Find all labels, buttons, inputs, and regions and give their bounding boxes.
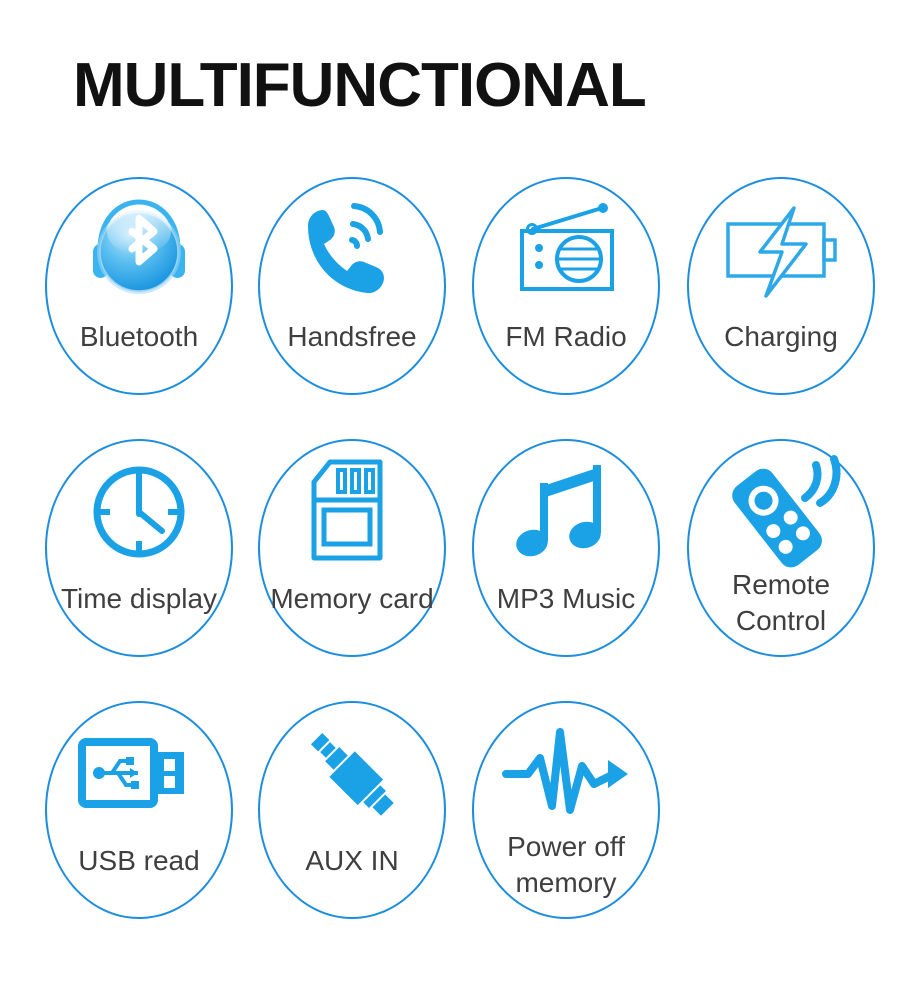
waveform-arrow-icon: [501, 715, 631, 833]
feature-label: Time display: [24, 581, 254, 617]
feature-label: Power off memory: [451, 829, 681, 901]
feature-label: AUX IN: [237, 843, 467, 879]
feature-label: USB read: [24, 843, 254, 879]
feature-label: Remote Control: [666, 567, 896, 639]
usb-flash-drive-icon: [74, 715, 204, 833]
battery-bolt-icon: [716, 191, 846, 309]
feature-item-charging[interactable]: Charging: [687, 177, 875, 395]
feature-row: Bluetooth Handsfree: [0, 165, 923, 427]
music-note-icon: [501, 453, 631, 571]
feature-label: FM Radio: [451, 319, 681, 355]
feature-label: Handsfree: [237, 319, 467, 355]
sd-card-icon: [287, 453, 417, 571]
feature-item-fm-radio[interactable]: FM Radio: [472, 177, 660, 395]
audio-jack-icon: [287, 715, 417, 833]
multifunctional-feature-poster: MULTIFUNCTIONAL: [0, 0, 923, 1000]
feature-item-remote-control[interactable]: Remote Control: [687, 439, 875, 657]
radio-icon: [501, 191, 631, 309]
feature-item-time-display[interactable]: Time display: [45, 439, 233, 657]
feature-item-bluetooth[interactable]: Bluetooth: [45, 177, 233, 395]
feature-item-mp3-music[interactable]: MP3 Music: [472, 439, 660, 657]
feature-row: USB read: [0, 689, 923, 951]
feature-row: Time display Memory card: [0, 427, 923, 689]
feature-item-aux-in[interactable]: AUX IN: [258, 701, 446, 919]
feature-label: Memory card: [237, 581, 467, 617]
phone-handset-signal-icon: [287, 191, 417, 309]
feature-grid: Bluetooth Handsfree: [0, 165, 923, 951]
feature-label: MP3 Music: [451, 581, 681, 617]
feature-item-memory-card[interactable]: Memory card: [258, 439, 446, 657]
feature-item-power-off-memory[interactable]: Power off memory: [472, 701, 660, 919]
remote-control-icon: [716, 453, 846, 571]
feature-label: Charging: [666, 319, 896, 355]
feature-item-usb-read[interactable]: USB read: [45, 701, 233, 919]
feature-item-handsfree[interactable]: Handsfree: [258, 177, 446, 395]
bluetooth-headset-icon: [74, 191, 204, 309]
page-title: MULTIFUNCTIONAL: [73, 55, 646, 117]
clock-icon: [74, 453, 204, 571]
feature-label: Bluetooth: [24, 319, 254, 355]
